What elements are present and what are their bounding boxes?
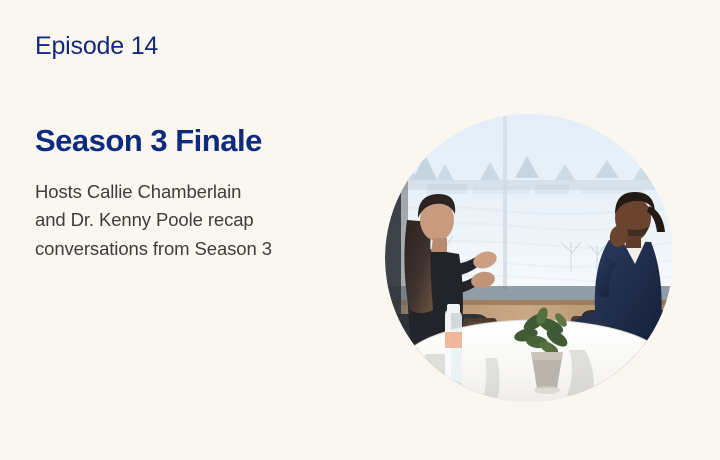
episode-title: Season 3 Finale xyxy=(35,123,262,159)
episode-thumbnail xyxy=(385,114,673,402)
window-frame-left xyxy=(385,114,401,314)
episode-description-line: conversations from Season 3 xyxy=(35,235,355,263)
episode-number-label: Episode 14 xyxy=(35,33,158,61)
bottle-label xyxy=(445,332,462,348)
episode-description: Hosts Callie Chamberlain and Dr. Kenny P… xyxy=(35,178,355,263)
water-bottle xyxy=(444,304,462,387)
episode-card: Episode 14 Season 3 Finale Hosts Callie … xyxy=(0,0,720,460)
episode-text-column: Episode 14 Season 3 Finale Hosts Callie … xyxy=(35,0,365,460)
episode-description-line: and Dr. Kenny Poole recap xyxy=(35,206,355,234)
episode-description-line: Hosts Callie Chamberlain xyxy=(35,178,355,206)
episode-thumbnail-illustration xyxy=(385,114,673,402)
host-left-shoe xyxy=(419,389,451,402)
window-mullion xyxy=(503,114,507,290)
